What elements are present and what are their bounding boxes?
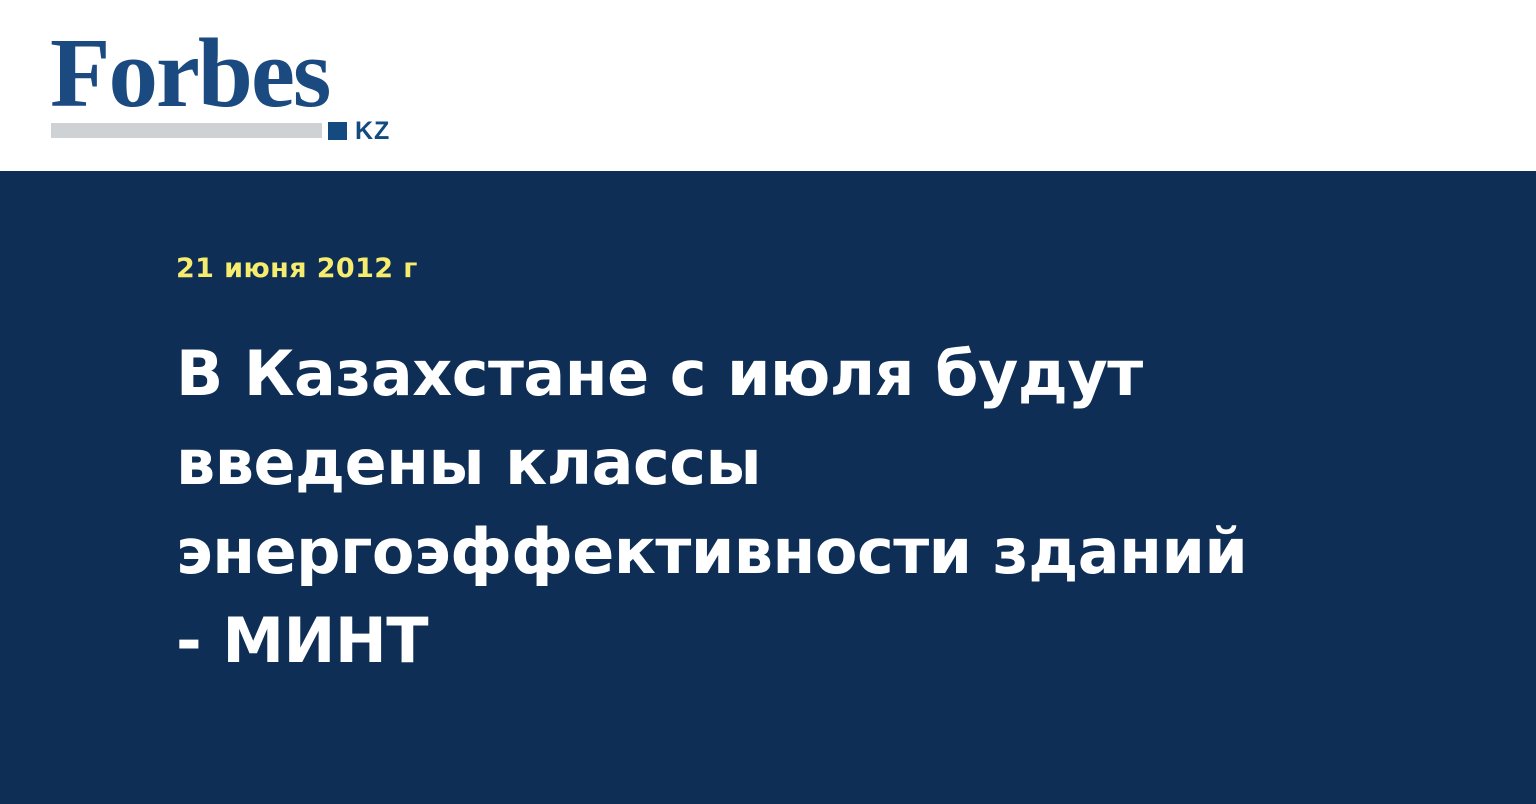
logo-locale-label: KZ [355, 119, 390, 144]
site-masthead: Forbes KZ [0, 0, 1536, 171]
article-page: Forbes KZ 21 июня 2012 г В Казахстане с … [0, 0, 1536, 804]
article-hero: 21 июня 2012 г В Казахстане с июля будут… [0, 171, 1536, 804]
article-date: 21 июня 2012 г [176, 171, 1376, 285]
article-title: В Казахстане с июля будут введены классы… [176, 285, 1266, 685]
logo-square-icon [328, 122, 347, 140]
logo-rule [51, 123, 322, 138]
forbes-kz-logo[interactable]: Forbes KZ [50, 22, 410, 142]
article-hero-content: 21 июня 2012 г В Казахстане с июля будут… [176, 171, 1376, 685]
forbes-wordmark: Forbes [50, 22, 329, 126]
